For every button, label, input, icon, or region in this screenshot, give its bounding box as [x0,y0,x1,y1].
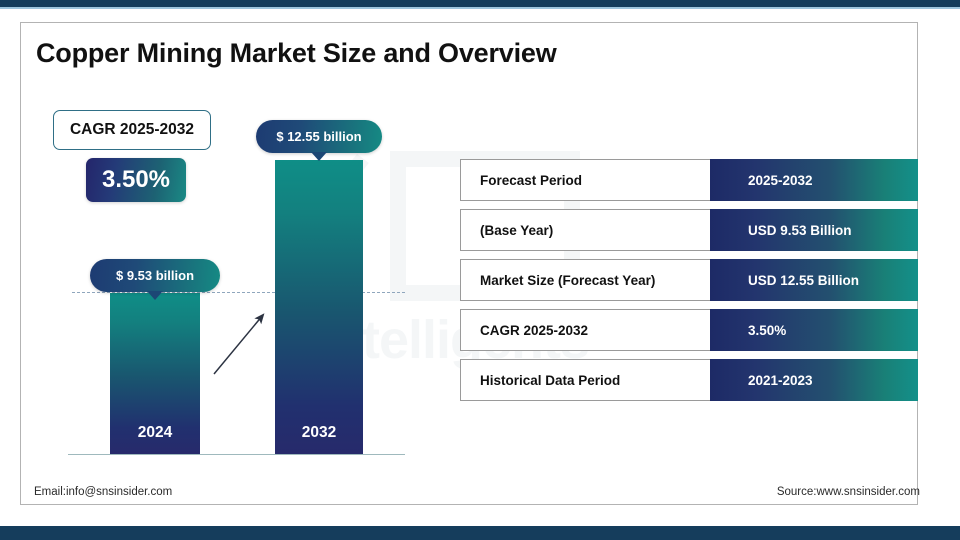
table-value-text: 2021-2023 [748,373,813,388]
footer-source: Source:www.snsinsider.com [777,486,920,498]
table-cell-value: 2025-2032 [710,159,918,201]
table-cell-value: 2021-2023 [710,359,918,401]
bottom-accent-band [0,526,960,540]
cagr-value-text: 3.50% [102,166,170,194]
cagr-label-text: CAGR 2025-2032 [70,121,194,139]
table-label-text: CAGR 2025-2032 [480,323,588,338]
top-accent-band [0,0,960,9]
table-cell-label: (Base Year) [460,209,710,251]
footer-email: Email:info@snsinsider.com [34,486,172,498]
table-value-text: USD 12.55 Billion [748,273,859,288]
table-row: Market Size (Forecast Year) USD 12.55 Bi… [460,259,918,301]
table-label-text: Historical Data Period [480,373,620,388]
page-title: Copper Mining Market Size and Overview [36,38,557,69]
summary-table: Forecast Period 2025-2032 (Base Year) US… [460,159,918,409]
table-row: Historical Data Period 2021-2023 [460,359,918,401]
table-value-text: 2025-2032 [748,173,813,188]
cagr-label-box: CAGR 2025-2032 [53,110,211,150]
table-value-text: USD 9.53 Billion [748,223,852,238]
table-cell-label: Historical Data Period [460,359,710,401]
cagr-value-badge: 3.50% [86,158,186,202]
table-label-text: Market Size (Forecast Year) [480,273,655,288]
table-cell-value: USD 9.53 Billion [710,209,918,251]
table-cell-value: 3.50% [710,309,918,351]
slide-root: ntelligents Copper Mining Market Size an… [0,0,960,540]
table-row: CAGR 2025-2032 3.50% [460,309,918,351]
table-cell-label: Forecast Period [460,159,710,201]
table-cell-value: USD 12.55 Billion [710,259,918,301]
table-row: (Base Year) USD 9.53 Billion [460,209,918,251]
table-cell-label: Market Size (Forecast Year) [460,259,710,301]
table-label-text: (Base Year) [480,223,553,238]
table-cell-label: CAGR 2025-2032 [460,309,710,351]
table-row: Forecast Period 2025-2032 [460,159,918,201]
table-label-text: Forecast Period [480,173,582,188]
table-value-text: 3.50% [748,323,786,338]
